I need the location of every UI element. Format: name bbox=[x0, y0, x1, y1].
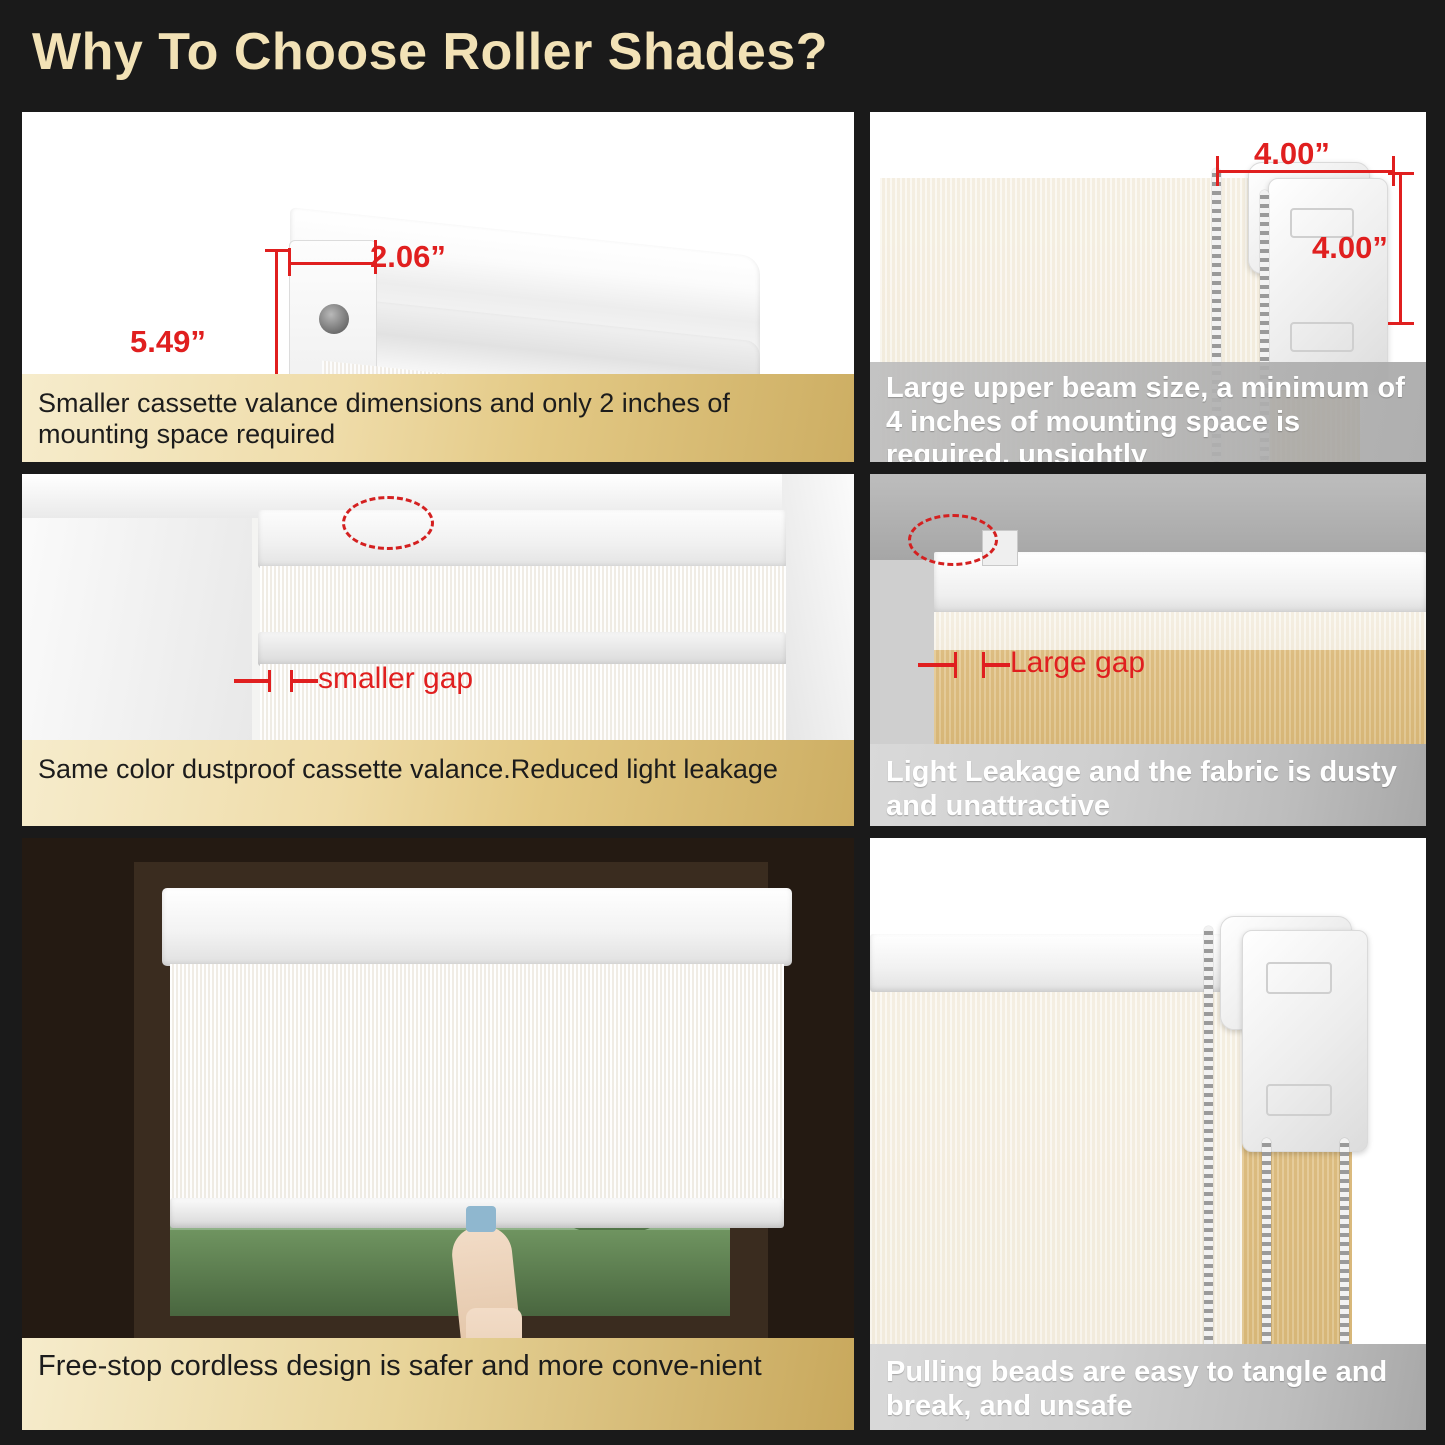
panel-6-caption: Pulling beads are easy to tangle and bre… bbox=[870, 1344, 1426, 1430]
p3-gap-label: smaller gap bbox=[318, 662, 473, 696]
p4-gap-arrow-right bbox=[984, 663, 1010, 667]
panel-5: Free-stop cordless design is safer and m… bbox=[22, 838, 854, 1430]
window-frame-right bbox=[782, 474, 854, 774]
p5-shade-fabric bbox=[170, 964, 784, 1204]
height-dimension-label: 5.49” bbox=[130, 324, 206, 360]
panel-3-caption: Same color dustproof cassette valance.Re… bbox=[22, 740, 854, 826]
p4-fabric-cream bbox=[934, 612, 1426, 652]
panel-3: smaller gap Same color dustproof cassett… bbox=[22, 474, 854, 826]
window-frame-left bbox=[22, 474, 252, 774]
panel-4: Large gap Light Leakage and the fabric i… bbox=[870, 474, 1426, 826]
infographic-page: Why To Choose Roller Shades? 2.06” bbox=[0, 0, 1445, 1445]
bracket-screw-upper bbox=[319, 304, 349, 334]
p2-height-label: 4.00” bbox=[1312, 230, 1388, 266]
panel-6-photo bbox=[870, 838, 1426, 1430]
p4-gap-highlight-ellipse bbox=[908, 514, 998, 566]
width-dimension-label: 2.06” bbox=[370, 239, 446, 275]
panel-3-fabric-upper bbox=[260, 566, 786, 636]
p3-gap-arrow-left bbox=[234, 679, 270, 683]
p4-gap-arrow-left bbox=[918, 663, 956, 667]
p2-height-line bbox=[1399, 174, 1402, 324]
p2-width-tick-left bbox=[1216, 156, 1219, 186]
panel-1-caption: Smaller cassette valance dimensions and … bbox=[22, 374, 854, 462]
page-title: Why To Choose Roller Shades? bbox=[32, 22, 828, 82]
valance-head-rail bbox=[258, 510, 786, 568]
p4-gap-label: Large gap bbox=[1010, 646, 1145, 680]
pull-tab bbox=[466, 1206, 496, 1232]
valance-bottom-rail bbox=[258, 632, 786, 666]
panel-5-caption: Free-stop cordless design is safer and m… bbox=[22, 1338, 854, 1430]
panel-grid: 2.06” 5.49” Smaller cassette valance dim… bbox=[22, 112, 1426, 1430]
height-dim-tick-top bbox=[265, 249, 289, 252]
lawn bbox=[170, 1230, 730, 1316]
p2-height-tick-bottom bbox=[1388, 322, 1414, 325]
panel-4-caption: Light Leakage and the fabric is dusty an… bbox=[870, 744, 1426, 826]
p6-head-rail bbox=[870, 934, 1242, 992]
gap-highlight-ellipse bbox=[342, 496, 434, 550]
panel-2: 4.00” 4.00” Large upper beam size, a min… bbox=[870, 112, 1426, 462]
width-dim-line bbox=[290, 262, 376, 265]
p6-bracket-slot-upper bbox=[1266, 962, 1332, 994]
p2-width-tick-right bbox=[1392, 156, 1395, 186]
panel-6: Pulling beads are easy to tangle and bre… bbox=[870, 838, 1426, 1430]
p2-height-tick-top bbox=[1388, 172, 1414, 175]
bracket-slot-lower bbox=[1290, 322, 1354, 352]
panel-2-caption: Large upper beam size, a minimum of 4 in… bbox=[870, 362, 1426, 462]
p5-head-rail bbox=[162, 888, 792, 966]
p6-bracket-slot-lower bbox=[1266, 1084, 1332, 1116]
p3-gap-arrow-right bbox=[292, 679, 318, 683]
p2-width-label: 4.00” bbox=[1254, 136, 1330, 172]
width-dim-tick-left bbox=[288, 248, 291, 276]
panel-1: 2.06” 5.49” Smaller cassette valance dim… bbox=[22, 112, 854, 462]
